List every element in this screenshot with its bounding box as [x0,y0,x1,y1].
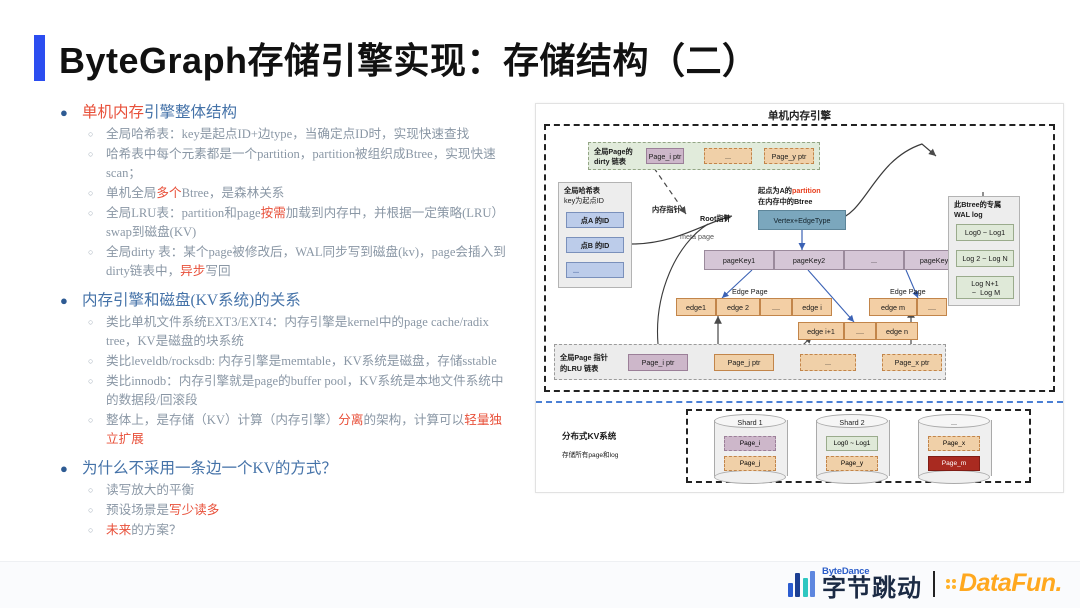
bytedance-logo: ByteDance 字节跳动 [788,567,923,602]
bullet-group: ●单机内存引擎整体结构○全局哈希表：key是起点ID+边type，当确定点ID时… [60,102,530,281]
shard-2[interactable]: ... Page_x Page_m [918,414,990,482]
lru-node-2[interactable]: ... [800,354,856,371]
lru-list-label-1: 全局Page 指针 [560,353,608,362]
wal-log-2[interactable]: Log N+1 ~ Log M [956,276,1014,299]
plain-text: 内存引擎和磁盘(KV系统)的关系 [82,292,301,309]
bullet-heading-text: 为什么不采用一条边一个KV的方式？ [82,458,337,480]
logo-divider [933,571,935,597]
wal-log-1[interactable]: Log 2 ~ Log N [956,250,1014,267]
bullet-dot-icon: ● [60,102,82,124]
bullet-sub-item[interactable]: ○类比单机文件系统EXT3/EXT4：内存引擎是kernel中的page cac… [60,313,530,351]
bytedance-wordmark: ByteDance 字节跳动 [822,567,922,602]
wal-log-0[interactable]: Log0 ~ Log1 [956,224,1014,241]
bullet-sub-text: 类比innodb：内存引擎就是page的buffer pool，KV系统是本地文… [106,372,510,410]
plain-text: 为什么不采用一条边一个KV的方式？ [82,460,337,477]
bullet-sub-text: 读写放大的平衡 [106,481,510,500]
bullet-sub-item[interactable]: ○读写放大的平衡 [60,481,530,500]
highlight-text: 写少读多 [169,503,219,517]
memory-engine-diagram: 单机内存引擎 [535,103,1064,493]
footer-logos: ByteDance 字节跳动 DataFun. [788,567,1062,602]
bullet-sub-text: 整体上，是存储（KV）计算（内存引擎）分离的架构，计算可以轻量独立扩展 [106,411,510,449]
shard-1-slot-0[interactable]: Log0 ~ Log1 [826,436,878,451]
bullet-sub-item[interactable]: ○全局LRU表：partition和page按需加载到内存中，并根据一定策略(L… [60,204,530,242]
bullet-sub-item[interactable]: ○哈希表中每个元素都是一个partition，partition被组织成Btre… [60,145,530,183]
partition-caption-pre: 起点为A的 [758,186,792,195]
wal-title-1: 此Btree的专属 [954,200,1001,209]
hash-entry-2[interactable]: ... [566,262,624,278]
shard-1-slot-1[interactable]: Page_y [826,456,878,471]
footer-bar: ByteDance 字节跳动 DataFun. [0,561,1080,608]
bullet-sub-item[interactable]: ○预设场景是写少读多 [60,501,530,520]
bytedance-cn: 字节跳动 [822,577,922,601]
shard-0-slot-0[interactable]: Page_i [724,436,776,451]
btree-root-node[interactable]: Vertex+EdgeType [758,210,846,230]
page-key-0[interactable]: pageKey1 [704,250,774,270]
bullet-sub-item[interactable]: ○单机全局多个Btree，是森林关系 [60,184,530,203]
highlight-text: 按需 [261,206,286,220]
dirty-node-0[interactable]: Page_i ptr [646,148,684,164]
shard-1-caption: Shard 2 [816,418,888,427]
partition-caption-line1: 起点为A的partition [758,186,821,195]
bytedance-bars-icon [788,571,816,597]
bullet-list: ●单机内存引擎整体结构○全局哈希表：key是起点ID+边type，当确定点ID时… [60,98,530,549]
sub-bullet-dot-icon: ○ [60,411,106,430]
highlight-text: 异步 [180,264,205,278]
edge-cell-0-2[interactable]: .... [760,298,792,316]
sub-bullet-dot-icon: ○ [60,372,106,391]
sub-bullet-dot-icon: ○ [60,481,106,500]
shard-2-slot-0[interactable]: Page_x [928,436,980,451]
dirty-node-2[interactable]: Page_y ptr [764,148,814,164]
highlight-text: 分离 [338,413,363,427]
datafun-logo: DataFun. [946,569,1062,598]
hash-table-title-1: 全局哈希表 [564,186,600,195]
sub-bullet-dot-icon: ○ [60,243,106,262]
dirty-list-label-1: 全局Page的 [594,147,633,156]
wal-title-2: WAL log [954,210,983,219]
sub-bullet-dot-icon: ○ [60,184,106,203]
shard-0-caption: Shard 1 [714,418,786,427]
bullet-sub-text: 类比单机文件系统EXT3/EXT4：内存引擎是kernel中的page cach… [106,313,510,351]
lru-node-0[interactable]: Page_i ptr [628,354,688,371]
bullet-sub-text: 全局哈希表：key是起点ID+边type，当确定点ID时，实现快速查找 [106,125,510,144]
bullet-heading-text: 单机内存引擎整体结构 [82,102,237,124]
bullet-sub-item[interactable]: ○全局哈希表：key是起点ID+边type，当确定点ID时，实现快速查找 [60,125,530,144]
edge-cell-1-2[interactable]: edge n [876,322,918,340]
lru-node-3[interactable]: Page_x ptr [882,354,942,371]
edge-cell-1-0[interactable]: edge i+1 [798,322,844,340]
bullet-sub-item[interactable]: ○整体上，是存储（KV）计算（内存引擎）分离的架构，计算可以轻量独立扩展 [60,411,530,449]
edge-cell-2-0[interactable]: edge m [869,298,917,316]
bullet-sub-item[interactable]: ○类比leveldb/rocksdb: 内存引擎是memtable，KV系统是磁… [60,352,530,371]
shard-0[interactable]: Shard 1 Page_i Page_j [714,414,786,482]
hash-entry-0[interactable]: 点A 的ID [566,212,624,228]
edge-cell-0-3[interactable]: edge i [792,298,832,316]
dirty-node-1[interactable]: ... [704,148,752,164]
sub-bullet-dot-icon: ○ [60,521,106,540]
sub-bullet-dot-icon: ○ [60,204,106,223]
edge-cell-0-0[interactable]: edge1 [676,298,716,316]
bullet-sub-item[interactable]: ○全局dirty 表：某个page被修改后，WAL同步写到磁盘(kv)，page… [60,243,530,281]
shard-1[interactable]: Shard 2 Log0 ~ Log1 Page_y [816,414,888,482]
highlight-text: 未来 [106,523,131,537]
bullet-sub-text: 全局LRU表：partition和page按需加载到内存中，并根据一定策略(LR… [106,204,510,242]
kv-system-subtitle: 存储所有page和log [562,452,618,461]
bullet-sub-text: 类比leveldb/rocksdb: 内存引擎是memtable，KV系统是磁盘… [106,352,510,371]
memory-kv-divider [536,401,1063,403]
bullet-sub-text: 哈希表中每个元素都是一个partition，partition被组织成Btree… [106,145,510,183]
page-title: ByteGraph存储引擎实现：存储结构（二） [34,32,759,84]
dirty-list-label-2: dirty 链表 [594,157,626,166]
bullet-group: ●内存引擎和磁盘(KV系统)的关系○类比单机文件系统EXT3/EXT4：内存引擎… [60,290,530,449]
root-pointer-label: Root指针 [700,214,731,223]
bullet-sub-item[interactable]: ○未来的方案？ [60,521,530,540]
sub-bullet-dot-icon: ○ [60,313,106,332]
bullet-heading[interactable]: ●为什么不采用一条边一个KV的方式？ [60,458,530,480]
bullet-sub-text: 预设场景是写少读多 [106,501,510,520]
hash-entry-1[interactable]: 点B 的ID [566,237,624,253]
bullet-heading-text: 内存引擎和磁盘(KV系统)的关系 [82,290,301,312]
meta-page-label: meta page [680,232,714,241]
kv-system-title: 分布式KV系统 [562,431,616,442]
partition-caption-hl: partition [792,186,821,195]
title-text: ByteGraph存储引擎实现：存储结构（二） [59,32,759,84]
shard-2-slot-1[interactable]: Page_m [928,456,980,471]
memory-pointer-label: 内存指针 [652,205,681,214]
lru-node-1[interactable]: Page_j ptr [714,354,774,371]
edge-page-label-0: Edge Page [732,287,768,296]
partition-caption-line2: 在内存中的Btree [758,197,812,206]
sub-bullet-dot-icon: ○ [60,145,106,164]
sub-bullet-dot-icon: ○ [60,352,106,371]
highlight-text: 多个 [156,186,181,200]
bullet-sub-text: 单机全局多个Btree，是森林关系 [106,184,510,203]
bullet-group: ●为什么不采用一条边一个KV的方式？○读写放大的平衡○预设场景是写少读多○未来的… [60,458,530,540]
bullet-dot-icon: ● [60,458,82,480]
lru-list-label-2: 的LRU 链表 [560,364,598,373]
shard-2-caption: ... [918,418,990,427]
highlight-text: 单机内存 [82,104,144,121]
bullet-heading[interactable]: ●内存引擎和磁盘(KV系统)的关系 [60,290,530,312]
page-key-2[interactable]: ... [844,250,904,270]
edge-cell-2-1[interactable]: .... [917,298,947,316]
hash-table-title-2: key为起点ID [564,196,604,205]
sub-bullet-dot-icon: ○ [60,125,106,144]
bullet-sub-text: 未来的方案？ [106,521,510,540]
title-accent-bar [34,35,45,81]
edge-page-label-2: Edge Page [890,287,926,296]
datafun-dots-icon [946,579,956,589]
edge-cell-1-1[interactable]: .... [844,322,876,340]
bullet-heading[interactable]: ●单机内存引擎整体结构 [60,102,530,124]
edge-cell-0-1[interactable]: edge 2 [716,298,760,316]
datafun-wordmark: DataFun. [959,569,1062,598]
shard-0-slot-1[interactable]: Page_j [724,456,776,471]
highlight-text: 轻量独立扩展 [106,413,502,446]
sub-bullet-dot-icon: ○ [60,501,106,520]
plain-text: 引擎整体结构 [144,104,237,121]
bullet-dot-icon: ● [60,290,82,312]
page-key-1[interactable]: pageKey2 [774,250,844,270]
bullet-sub-item[interactable]: ○类比innodb：内存引擎就是page的buffer pool，KV系统是本地… [60,372,530,410]
diagram-title: 单机内存引擎 [536,108,1063,123]
bullet-sub-text: 全局dirty 表：某个page被修改后，WAL同步写到磁盘(kv)，page会… [106,243,510,281]
